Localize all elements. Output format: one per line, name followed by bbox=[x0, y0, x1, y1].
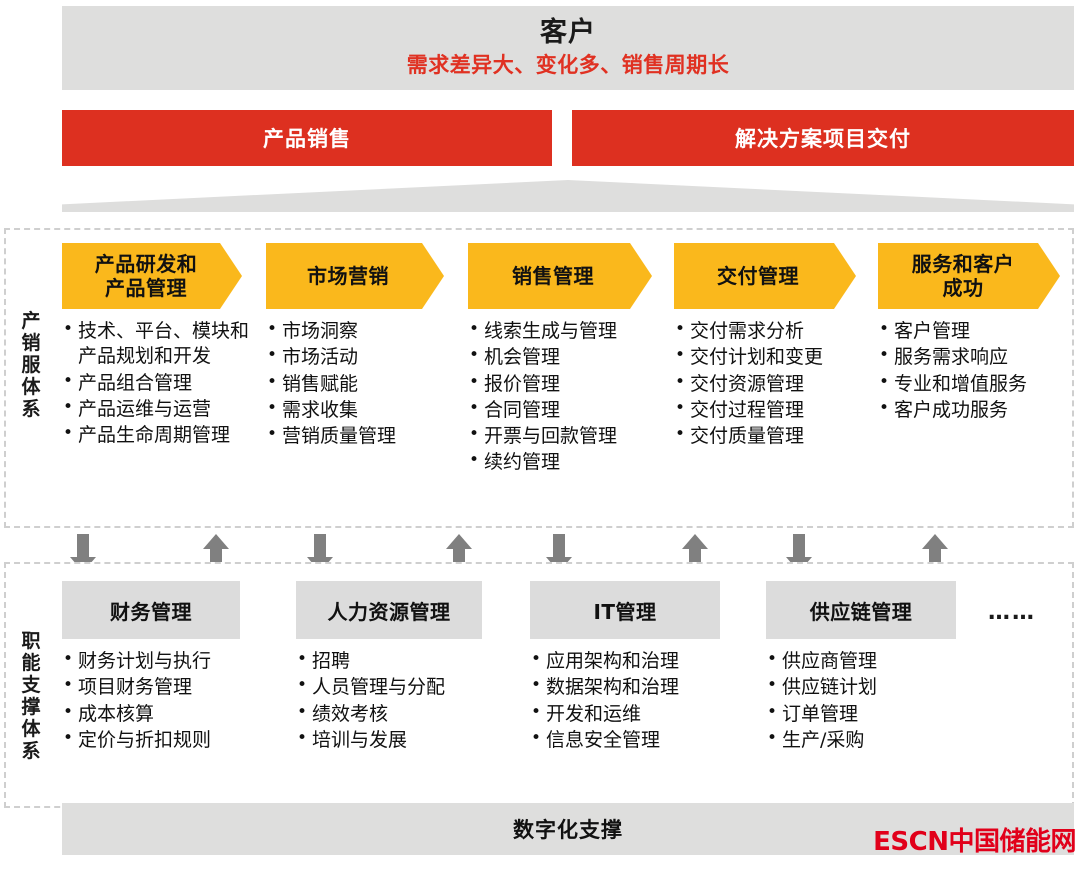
function-bullet-list: 应用架构和治理 数据架构和治理 开发和运维 信息安全管理 bbox=[530, 649, 752, 753]
function-bullet-list: 供应商管理 供应链计划 订单管理 生产/采购 bbox=[766, 649, 958, 753]
stream-bar-solution-delivery: 解决方案项目交付 bbox=[572, 110, 1074, 166]
list-item: 技术、平台、模块和产品规划和开发 bbox=[62, 319, 260, 370]
list-item: 定价与折扣规则 bbox=[62, 728, 270, 753]
side-label-top-char-3: 体 bbox=[14, 376, 48, 398]
list-item: 项目财务管理 bbox=[62, 675, 270, 700]
list-item: 客户管理 bbox=[878, 319, 1074, 344]
list-item: 信息安全管理 bbox=[530, 728, 752, 753]
escn-watermark: ESCN中国储能网 bbox=[873, 821, 1076, 858]
side-label-top: 产 销 服 体 系 bbox=[14, 310, 48, 420]
process-chevron-product-rd[interactable]: 产品研发和 产品管理 bbox=[62, 243, 242, 309]
function-bullet-list: 财务计划与执行 项目财务管理 成本核算 定价与折扣规则 bbox=[62, 649, 270, 753]
process-column-marketing: 市场营销 市场洞察 市场活动 销售赋能 需求收集 营销质量管理 bbox=[266, 243, 464, 450]
side-label-bottom-char-2: 支 bbox=[14, 674, 48, 696]
process-chevron-delivery-mgmt[interactable]: 交付管理 bbox=[674, 243, 856, 309]
list-item: 交付资源管理 bbox=[674, 372, 864, 397]
process-chevron-marketing[interactable]: 市场营销 bbox=[266, 243, 444, 309]
list-item: 交付过程管理 bbox=[674, 398, 864, 423]
function-header-supply-chain[interactable]: 供应链管理 bbox=[766, 581, 956, 639]
function-header-hr[interactable]: 人力资源管理 bbox=[296, 581, 482, 639]
list-item: 产品组合管理 bbox=[62, 371, 260, 396]
list-item: 合同管理 bbox=[468, 398, 666, 423]
list-item: 线索生成与管理 bbox=[468, 319, 666, 344]
list-item: 续约管理 bbox=[468, 450, 666, 475]
process-chevron-service-success[interactable]: 服务和客户 成功 bbox=[878, 243, 1060, 309]
function-header-finance[interactable]: 财务管理 bbox=[62, 581, 240, 639]
list-item: 财务计划与执行 bbox=[62, 649, 270, 674]
process-bullet-list: 交付需求分析 交付计划和变更 交付资源管理 交付过程管理 交付质量管理 bbox=[674, 319, 864, 449]
list-item: 市场活动 bbox=[266, 345, 464, 370]
side-label-bottom-char-3: 撑 bbox=[14, 696, 48, 718]
more-functions-ellipsis: …… bbox=[988, 600, 1036, 625]
list-item: 需求收集 bbox=[266, 398, 464, 423]
chevron-line-1: 成功 bbox=[943, 276, 984, 300]
side-label-bottom: 职 能 支 撑 体 系 bbox=[14, 630, 48, 762]
side-label-top-char-4: 系 bbox=[14, 398, 48, 420]
process-chevron-label: 销售管理 bbox=[506, 264, 614, 288]
process-bullet-list: 市场洞察 市场活动 销售赋能 需求收集 营销质量管理 bbox=[266, 319, 464, 449]
process-bullet-list: 线索生成与管理 机会管理 报价管理 合同管理 开票与回款管理 续约管理 bbox=[468, 319, 666, 476]
process-column-service-success: 服务和客户 成功 客户管理 服务需求响应 专业和增值服务 客户成功服务 bbox=[878, 243, 1074, 424]
list-item: 绩效考核 bbox=[296, 702, 516, 727]
process-chevron-label: 交付管理 bbox=[711, 264, 819, 288]
side-label-bottom-char-0: 职 bbox=[14, 630, 48, 652]
process-chevron-sales-mgmt[interactable]: 销售管理 bbox=[468, 243, 652, 309]
process-column-delivery-mgmt: 交付管理 交付需求分析 交付计划和变更 交付资源管理 交付过程管理 交付质量管理 bbox=[674, 243, 864, 450]
list-item: 生产/采购 bbox=[766, 728, 958, 753]
list-item: 成本核算 bbox=[62, 702, 270, 727]
function-column-finance: 财务管理 财务计划与执行 项目财务管理 成本核算 定价与折扣规则 bbox=[62, 581, 270, 754]
list-item: 开发和运维 bbox=[530, 702, 752, 727]
process-chevron-label: 服务和客户 成功 bbox=[906, 252, 1033, 300]
list-item: 销售赋能 bbox=[266, 372, 464, 397]
process-chevron-label: 市场营销 bbox=[301, 264, 409, 288]
chevron-line-1: 产品管理 bbox=[105, 276, 187, 300]
customer-banner: 客户 需求差异大、变化多、销售周期长 bbox=[62, 6, 1074, 90]
list-item: 交付需求分析 bbox=[674, 319, 864, 344]
process-column-sales-mgmt: 销售管理 线索生成与管理 机会管理 报价管理 合同管理 开票与回款管理 续约管理 bbox=[468, 243, 666, 477]
list-item: 开票与回款管理 bbox=[468, 424, 666, 449]
customer-title: 客户 bbox=[540, 17, 596, 48]
diagram-canvas: 客户 需求差异大、变化多、销售周期长 产品销售 解决方案项目交付 产 销 服 体… bbox=[0, 0, 1080, 873]
list-item: 供应商管理 bbox=[766, 649, 958, 674]
list-item: 产品运维与运营 bbox=[62, 397, 260, 422]
list-item: 交付计划和变更 bbox=[674, 345, 864, 370]
list-item: 客户成功服务 bbox=[878, 398, 1074, 423]
up-chevron-band bbox=[62, 180, 1074, 212]
list-item: 服务需求响应 bbox=[878, 345, 1074, 370]
function-header-it[interactable]: IT管理 bbox=[530, 581, 720, 639]
process-bullet-list: 客户管理 服务需求响应 专业和增值服务 客户成功服务 bbox=[878, 319, 1074, 423]
chevron-line-0: 服务和客户 bbox=[912, 252, 1015, 276]
list-item: 应用架构和治理 bbox=[530, 649, 752, 674]
list-item: 招聘 bbox=[296, 649, 516, 674]
side-label-top-char-1: 销 bbox=[14, 332, 48, 354]
chevron-line-0: 产品研发和 bbox=[95, 252, 198, 276]
list-item: 供应链计划 bbox=[766, 675, 958, 700]
side-label-bottom-char-1: 能 bbox=[14, 652, 48, 674]
function-column-supply-chain: 供应链管理 供应商管理 供应链计划 订单管理 生产/采购 bbox=[766, 581, 958, 754]
list-item: 订单管理 bbox=[766, 702, 958, 727]
function-column-hr: 人力资源管理 招聘 人员管理与分配 绩效考核 培训与发展 bbox=[296, 581, 516, 754]
list-item: 报价管理 bbox=[468, 372, 666, 397]
list-item: 营销质量管理 bbox=[266, 424, 464, 449]
list-item: 产品生命周期管理 bbox=[62, 423, 260, 448]
process-chevron-label: 产品研发和 产品管理 bbox=[89, 252, 216, 300]
list-item: 人员管理与分配 bbox=[296, 675, 516, 700]
function-bullet-list: 招聘 人员管理与分配 绩效考核 培训与发展 bbox=[296, 649, 516, 753]
list-item: 专业和增值服务 bbox=[878, 372, 1074, 397]
list-item: 数据架构和治理 bbox=[530, 675, 752, 700]
list-item: 交付质量管理 bbox=[674, 424, 864, 449]
side-label-bottom-char-5: 系 bbox=[14, 740, 48, 762]
function-column-it: IT管理 应用架构和治理 数据架构和治理 开发和运维 信息安全管理 bbox=[530, 581, 752, 754]
side-label-top-char-0: 产 bbox=[14, 310, 48, 332]
customer-subtitle: 需求差异大、变化多、销售周期长 bbox=[407, 52, 730, 79]
process-column-product-rd: 产品研发和 产品管理 技术、平台、模块和产品规划和开发 产品组合管理 产品运维与… bbox=[62, 243, 260, 449]
side-label-top-char-2: 服 bbox=[14, 354, 48, 376]
side-label-bottom-char-4: 体 bbox=[14, 718, 48, 740]
stream-bar-product-sales: 产品销售 bbox=[62, 110, 552, 166]
list-item: 机会管理 bbox=[468, 345, 666, 370]
list-item: 培训与发展 bbox=[296, 728, 516, 753]
process-bullet-list: 技术、平台、模块和产品规划和开发 产品组合管理 产品运维与运营 产品生命周期管理 bbox=[62, 319, 260, 448]
list-item: 市场洞察 bbox=[266, 319, 464, 344]
